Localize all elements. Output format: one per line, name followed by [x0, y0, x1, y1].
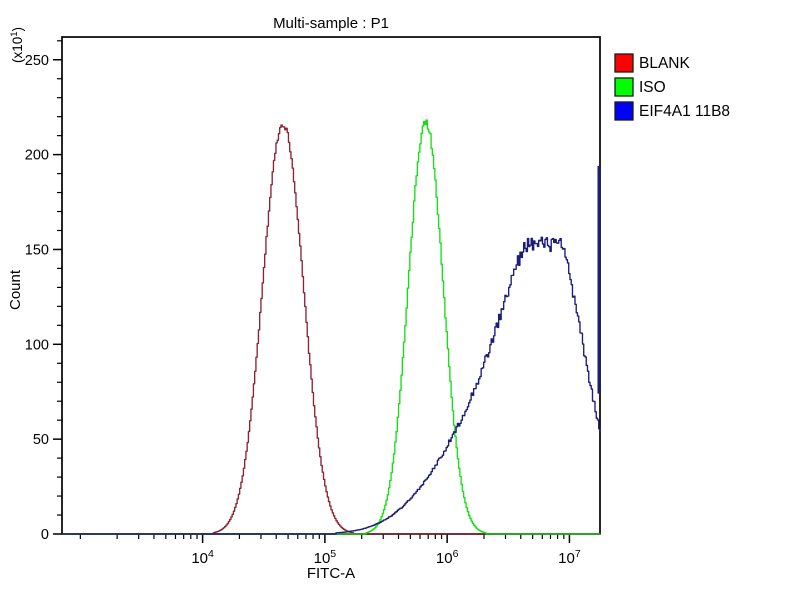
figure-background [0, 0, 800, 600]
legend-swatch [615, 78, 633, 96]
legend-label: BLANK [639, 55, 690, 72]
y-tick-label: 200 [25, 148, 49, 164]
legend-swatch [615, 102, 633, 120]
multiplier-close: ) [10, 27, 25, 32]
y-tick-label: 150 [25, 242, 49, 258]
y-tick-label: 0 [41, 527, 49, 543]
legend-label: ISO [639, 79, 666, 96]
y-axis-title: Count [7, 269, 24, 310]
legend-swatch [615, 54, 633, 72]
y-axis-multiplier: (x101) [9, 27, 25, 63]
page-title: Multi-sample : P1 [273, 15, 389, 32]
y-tick-label: 100 [25, 337, 49, 353]
y-tick-label: 50 [33, 432, 49, 448]
x-axis-label: FITC-A [307, 565, 355, 582]
flow-cytometry-histogram: Multi-sample : P1 050100150200250 104105… [0, 0, 800, 600]
y-axis-multiplier-text: (x101) [9, 27, 25, 63]
y-axis-label: Count [7, 269, 24, 310]
multiplier-base: (x10 [10, 37, 25, 63]
y-tick-label: 250 [25, 53, 49, 69]
legend-label: EIF4A1 11B8 [639, 103, 730, 120]
